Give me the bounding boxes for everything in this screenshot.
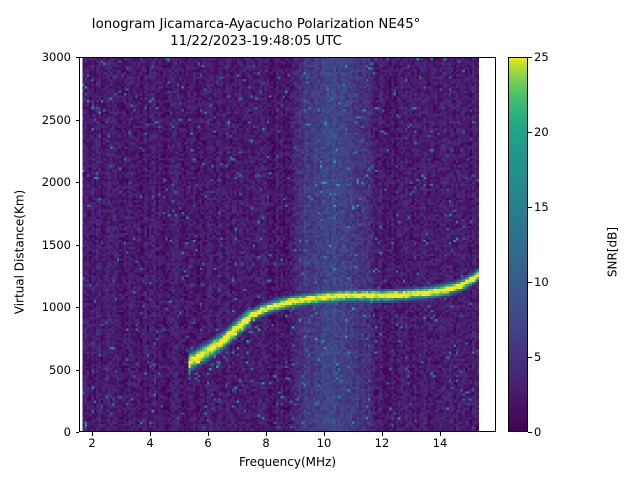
colorbar-tick-mark: [528, 57, 532, 58]
plot-axes: [79, 57, 496, 432]
xtick-label: 8: [262, 436, 269, 450]
ytick-mark: [76, 120, 80, 121]
ionogram-figure: Ionogram Jicamarca-Ayacucho Polarization…: [0, 0, 640, 480]
page-title: Ionogram Jicamarca-Ayacucho Polarization…: [0, 16, 512, 50]
ytick-label: 1000: [42, 300, 71, 314]
colorbar-tick-label: 25: [534, 50, 549, 64]
ytick-label: 1500: [42, 238, 71, 252]
ytick-mark: [76, 182, 80, 183]
xtick-label: 12: [375, 436, 390, 450]
colorbar-tick-label: 10: [534, 275, 549, 289]
colorbar-tick-mark: [528, 207, 532, 208]
xtick-label: 6: [204, 436, 211, 450]
xtick-mark: [324, 432, 325, 436]
xtick-mark: [150, 432, 151, 436]
x-axis-title: Frequency(MHz): [79, 455, 496, 469]
colorbar-tick-label: 20: [534, 125, 549, 139]
xtick-mark: [92, 432, 93, 436]
colorbar-tick-label: 0: [534, 425, 541, 439]
colorbar-tick-mark: [528, 432, 532, 433]
ytick-label: 2500: [42, 113, 71, 127]
xtick-mark: [382, 432, 383, 436]
colorbar-title: SNR[dB]: [606, 64, 620, 439]
title-line-1: Ionogram Jicamarca-Ayacucho Polarization…: [0, 16, 512, 33]
ionogram-heatmap: [80, 58, 495, 431]
xtick-mark: [440, 432, 441, 436]
title-line-2: 11/22/2023-19:48:05 UTC: [0, 33, 512, 50]
ytick-mark: [76, 307, 80, 308]
ytick-label: 3000: [42, 50, 71, 64]
xtick-label: 10: [317, 436, 332, 450]
colorbar-tick-mark: [528, 357, 532, 358]
ytick-mark: [76, 370, 80, 371]
ytick-mark: [76, 57, 80, 58]
xtick-label: 14: [433, 436, 448, 450]
xtick-label: 4: [146, 436, 153, 450]
ytick-label: 2000: [42, 175, 71, 189]
colorbar-tick-label: 5: [534, 350, 541, 364]
xtick-label: 2: [88, 436, 95, 450]
xtick-mark: [266, 432, 267, 436]
ytick-label: 0: [64, 425, 71, 439]
colorbar: [508, 57, 528, 432]
xtick-mark: [208, 432, 209, 436]
colorbar-tick-mark: [528, 132, 532, 133]
ytick-mark: [76, 432, 80, 433]
ytick-mark: [76, 245, 80, 246]
y-axis-title: Virtual Distance(Km): [13, 64, 27, 439]
colorbar-tick-label: 15: [534, 200, 549, 214]
colorbar-tick-mark: [528, 282, 532, 283]
ytick-label: 500: [49, 363, 71, 377]
